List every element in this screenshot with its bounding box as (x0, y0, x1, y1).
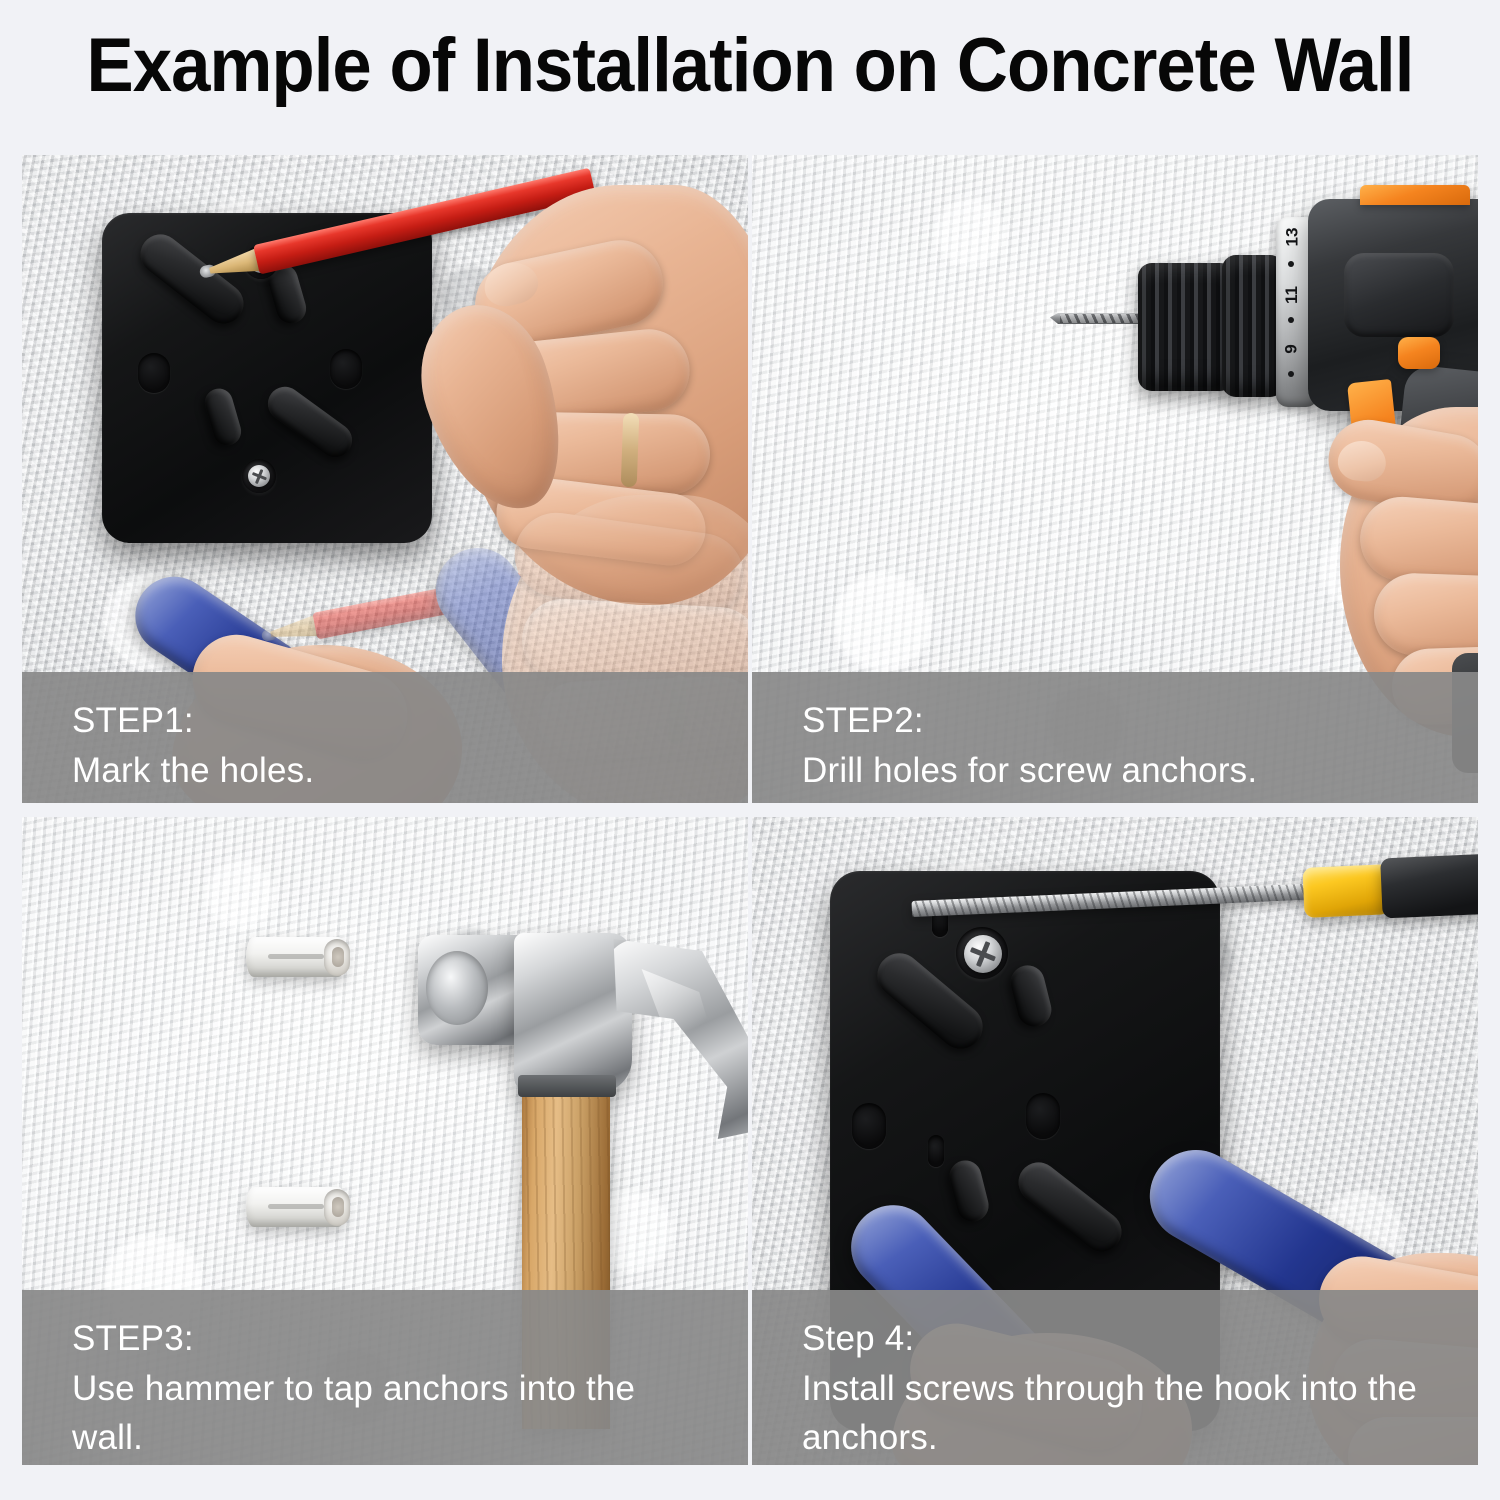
step-2-caption-line-2: Drill holes for screw anchors. (802, 746, 1478, 796)
step-3-caption-line-1: STEP3: (72, 1314, 748, 1364)
torque-dot (1288, 371, 1294, 377)
pencil-wood-tip (269, 614, 320, 645)
drill-bit-flute (1060, 314, 1146, 323)
step-panel-4: Step 4: Install screws through the hook … (752, 817, 1478, 1465)
anchor-bore (332, 1197, 344, 1217)
drill-chuck-collar (1222, 255, 1284, 397)
hammer-face-ring (426, 951, 488, 1025)
drill-chuck (1138, 263, 1234, 391)
step-1-caption: STEP1: Mark the holes. (22, 672, 748, 803)
torque-dot (1288, 317, 1294, 323)
hook-anchor-hole (1026, 1093, 1060, 1139)
hook-bump (946, 1157, 992, 1225)
step-panel-1: STEP1: Mark the holes. (22, 155, 748, 803)
step-panel-2: 13 11 9 (752, 155, 1478, 803)
hook-anchor-hole (852, 1103, 886, 1149)
wall-anchor-top (246, 935, 350, 981)
torque-label-13: 13 (1282, 228, 1302, 247)
step-2-caption: STEP2: Drill holes for screw anchors. (752, 672, 1478, 803)
step-4-caption-line-1: Step 4: (802, 1314, 1478, 1364)
anchor-bore (332, 947, 344, 967)
hook-bump (1010, 1154, 1129, 1259)
steps-grid: STEP1: Mark the holes. 13 11 9 (22, 155, 1478, 1465)
step-3-caption-line-2: Use hammer to tap anchors into the (72, 1364, 748, 1414)
step-2-caption-line-1: STEP2: (802, 696, 1478, 746)
step-panel-3: STEP3: Use hammer to tap anchors into th… (22, 817, 748, 1465)
hammer-handle-collar (518, 1075, 616, 1097)
anchor-slot (268, 1204, 324, 1209)
drill-top-accent (1360, 185, 1470, 205)
page-title: Example of Installation on Concrete Wall (53, 28, 1448, 104)
step-4-caption: Step 4: Install screws through the hook … (752, 1290, 1478, 1465)
torque-label-9: 9 (1282, 344, 1302, 353)
wall-anchor-bottom (246, 1185, 350, 1231)
drill-direction-switch (1398, 337, 1440, 369)
step-4-caption-line-2: Install screws through the hook into the (802, 1364, 1478, 1414)
hook-bump (1007, 962, 1055, 1030)
anchor-slot (268, 954, 324, 959)
step-4-caption-line-3: anchors. (802, 1413, 1478, 1463)
installation-guide-page: Example of Installation on Concrete Wall (0, 0, 1500, 1500)
plate-vent-slot (928, 1135, 944, 1167)
drill-body-panel (1344, 253, 1454, 337)
torque-dot (1288, 261, 1294, 267)
screwdriver-shaft-texture (912, 883, 1316, 917)
screwdriver-handle (1380, 853, 1478, 918)
screwdriver-ferrule (1302, 864, 1390, 918)
torque-label-11: 11 (1282, 286, 1302, 304)
step-3-caption-line-3: wall. (72, 1413, 748, 1463)
step-1-caption-line-2: Mark the holes. (72, 746, 748, 796)
step-1-caption-line-1: STEP1: (72, 696, 748, 746)
step-3-caption: STEP3: Use hammer to tap anchors into th… (22, 1290, 748, 1465)
